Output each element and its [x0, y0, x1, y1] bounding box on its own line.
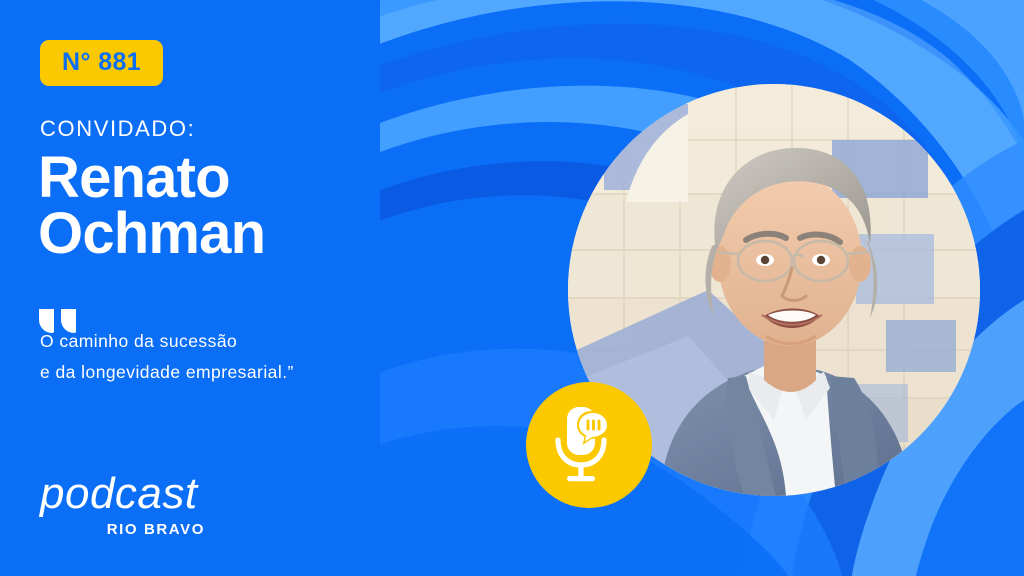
guest-name: Renato Ochman — [38, 150, 265, 261]
episode-number-badge: N° 881 — [40, 40, 163, 86]
podcast-episode-card: N° 881 CONVIDADO: Renato Ochman O caminh… — [0, 0, 1024, 576]
microphone-speech-bubble-icon[interactable] — [526, 382, 652, 508]
left-content-column: N° 881 CONVIDADO: Renato Ochman O caminh… — [0, 0, 420, 576]
guest-quote: O caminho da sucessão e da longevidade e… — [40, 326, 294, 387]
guest-label: CONVIDADO: — [40, 118, 195, 140]
brand-primary-label: podcast — [40, 472, 205, 516]
podcast-brand-logo: podcast RIO BRAVO — [40, 472, 205, 537]
brand-secondary-label: RIO BRAVO — [40, 522, 205, 537]
